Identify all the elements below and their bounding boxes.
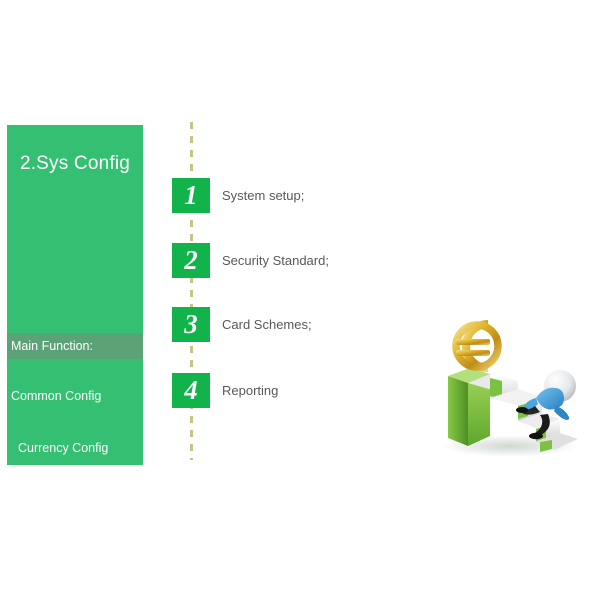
step-label: System setup; (222, 178, 304, 213)
figure-shoe-back (516, 407, 528, 413)
step-number-badge: 3 (172, 307, 210, 342)
step-label: Card Schemes; (222, 307, 312, 342)
sidebar-panel: 2.Sys Config Main Function: Common Confi… (7, 125, 143, 465)
dashed-connector-line (190, 122, 193, 460)
sidebar-item-main-function[interactable]: Main Function: (7, 333, 143, 359)
step-label: Reporting (222, 373, 278, 408)
step-label: Security Standard; (222, 243, 329, 278)
figure-shoe-front (529, 433, 543, 439)
euro-stairs-illustration (432, 318, 592, 458)
stair-column-front (448, 376, 468, 446)
step-number-badge: 4 (172, 373, 210, 408)
slide-canvas: 2.Sys Config Main Function: Common Confi… (0, 0, 600, 600)
sidebar-item-currency-config[interactable]: Currency Config (7, 435, 143, 461)
step-number-badge: 1 (172, 178, 210, 213)
page-title: 2.Sys Config (7, 153, 143, 175)
sidebar-item-common-config[interactable]: Common Config (7, 383, 143, 409)
step-number-badge: 2 (172, 243, 210, 278)
euro-symbol-icon (456, 324, 498, 368)
sidebar-item-card-config[interactable]: Card Config (7, 483, 143, 509)
